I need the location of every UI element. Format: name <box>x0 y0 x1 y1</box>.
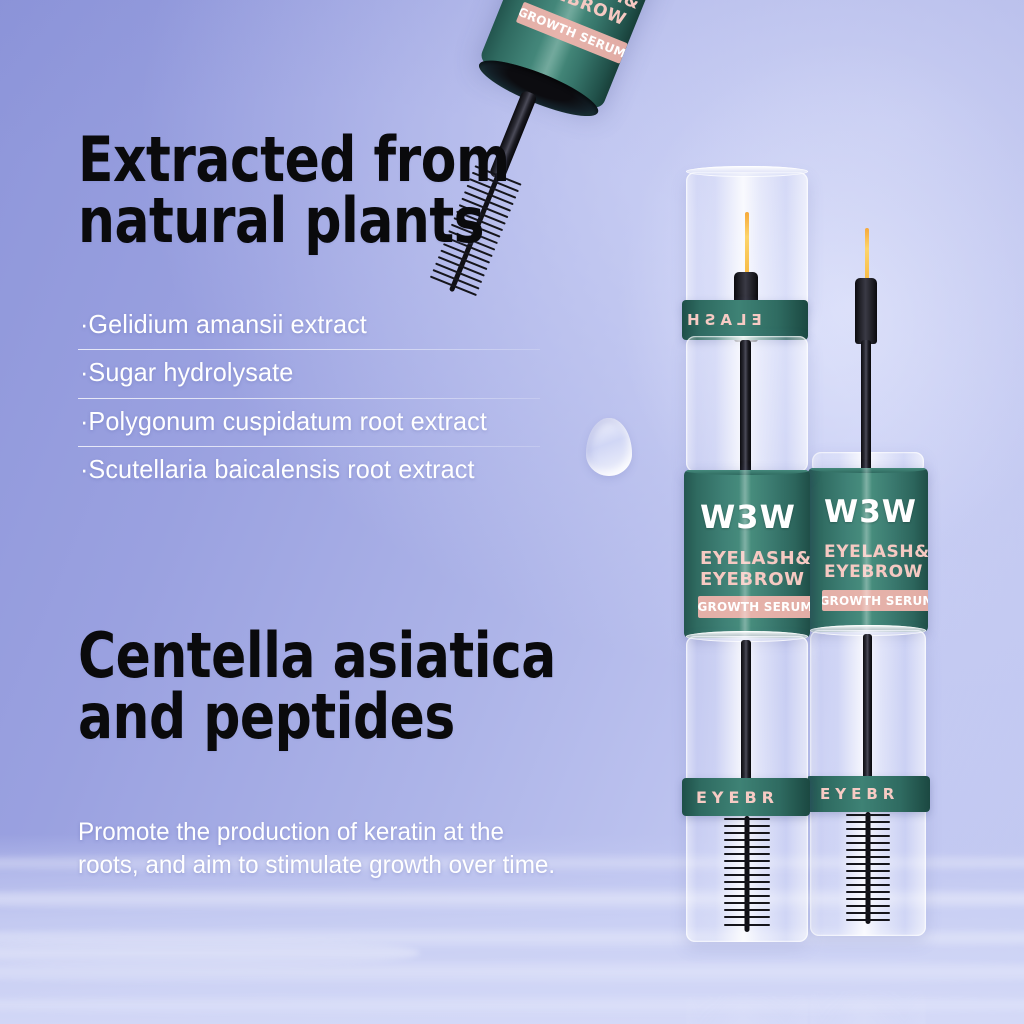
label-center: W3W EYELASH& EYEBROW GROWTH SERUM <box>684 470 810 638</box>
serum-band-text: GROWTH SERUM <box>822 594 928 608</box>
wand-stem-right-lower <box>863 634 872 792</box>
eyeliner-brush-tip-center <box>745 212 749 274</box>
list-item: ·Polygonum cuspidatum root extract <box>78 399 548 447</box>
collar-ring-eyebrow-right: EYEBR <box>806 776 930 812</box>
poster-stage: W3W EYELASH& EYEBROW GROWTH SERUM EYEBR <box>0 0 1024 1024</box>
ingredient-label: ·Gelidium amansii extract <box>78 302 534 349</box>
wand-stem-center <box>740 340 751 480</box>
label-subtitle-right: EYELASH& EYEBROW <box>824 542 928 582</box>
ingredient-label: ·Polygonum cuspidatum root extract <box>78 399 534 446</box>
headline-primary-line-2: natural plants <box>78 191 599 252</box>
tube-center-rim <box>686 166 808 177</box>
brand-name-center: W3W <box>700 498 796 536</box>
headline-primary: Extracted from natural plants <box>78 130 638 252</box>
tube-right-reflection: EYEBR <box>810 940 926 1024</box>
wand-stem-right <box>861 340 871 480</box>
applicator-holder-right <box>855 278 877 344</box>
ingredient-label: ·Sugar hydrolysate <box>78 350 534 397</box>
label-right: W3W EYELASH& EYEBROW GROWTH SERUM <box>808 468 928 632</box>
brand-name-right: W3W <box>824 494 917 530</box>
serum-band-text: GROWTH SERUM <box>698 600 810 614</box>
spoolie-brush-center <box>724 816 770 932</box>
spoolie-brush-right <box>846 812 890 924</box>
collar-ring-eyebrow-center: EYEBR <box>682 778 810 816</box>
headline-secondary: Centella asiatica and peptides <box>78 626 678 748</box>
serum-band-center: GROWTH SERUM <box>698 596 810 618</box>
serum-band-right: GROWTH SERUM <box>822 590 928 611</box>
headline-secondary-line-2: and peptides <box>78 687 636 748</box>
subtitle-line-1: EYELASH& <box>700 548 810 569</box>
body-copy-line-2: roots, and aim to stimulate growth over … <box>78 849 679 882</box>
copy-column: Extracted from natural plants ·Gelidium … <box>78 0 698 1024</box>
ingredient-list: ·Gelidium amansii extract ·Sugar hydroly… <box>78 302 548 494</box>
subtitle-line-1: EYELASH& <box>824 542 928 562</box>
label-top-edge <box>808 468 928 473</box>
collar-ring-label: EYEBR <box>806 785 899 803</box>
list-item: ·Gelidium amansii extract <box>78 302 548 350</box>
headline-primary-line-1: Extracted from <box>78 130 599 191</box>
tube-center-reflection: EYEBR <box>686 944 808 1024</box>
wand-stem-center-lower <box>741 640 751 790</box>
body-copy: Promote the production of keratin at the… <box>78 816 679 882</box>
subtitle-line-2: EYEBROW <box>824 562 928 582</box>
body-copy-line-1: Promote the production of keratin at the <box>78 816 679 849</box>
subtitle-line-2: EYEBROW <box>700 569 810 590</box>
collar-ring-eyelash-center: ELASH <box>682 300 808 340</box>
list-item: ·Scutellaria baicalensis root extract <box>78 447 548 494</box>
headline-secondary-line-1: Centella asiatica <box>78 626 636 687</box>
label-subtitle-center: EYELASH& EYEBROW <box>700 548 810 590</box>
list-item: ·Sugar hydrolysate <box>78 350 548 398</box>
eyeliner-brush-tip-right <box>865 228 869 280</box>
label-top-edge <box>684 470 810 475</box>
ingredient-label: ·Scutellaria baicalensis root extract <box>78 447 534 494</box>
